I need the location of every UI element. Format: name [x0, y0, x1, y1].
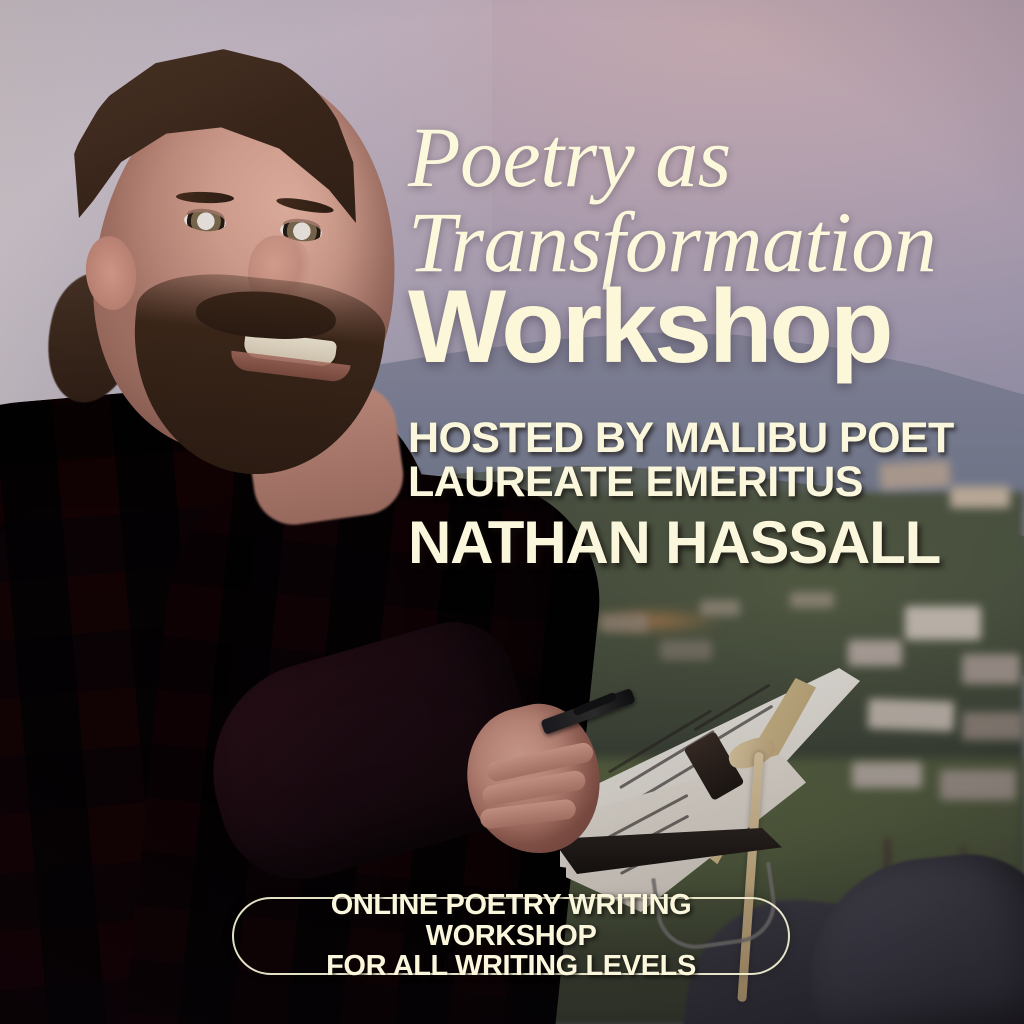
title-workshop: Workshop	[408, 278, 1008, 378]
host-line-1: HOSTED BY MALIBU POET	[408, 416, 1008, 460]
workshop-badge: ONLINE POETRY WRITING WORKSHOP FOR ALL W…	[232, 897, 790, 975]
host-line-2: LAUREATE EMERITUS	[408, 460, 1008, 504]
hillside-house	[940, 770, 1016, 800]
hillside-house	[700, 600, 740, 616]
badge-line-2: FOR ALL WRITING LEVELS	[244, 951, 778, 982]
badge-line-1: ONLINE POETRY WRITING WORKSHOP	[244, 890, 778, 951]
headline-block: Poetry as Transformation Workshop HOSTED…	[408, 118, 1008, 573]
hillside-house	[600, 614, 648, 632]
title-script-line-1: Poetry as	[408, 118, 1008, 197]
presenter-name: NATHAN HASSALL	[408, 513, 1008, 573]
poster: Poetry as Transformation Workshop HOSTED…	[0, 0, 1024, 1024]
badge-text: ONLINE POETRY WRITING WORKSHOP FOR ALL W…	[234, 890, 788, 982]
hillside-house	[962, 712, 1024, 740]
hillside-house	[790, 592, 834, 608]
hillside-house	[962, 654, 1020, 684]
hillside-house	[905, 606, 981, 640]
